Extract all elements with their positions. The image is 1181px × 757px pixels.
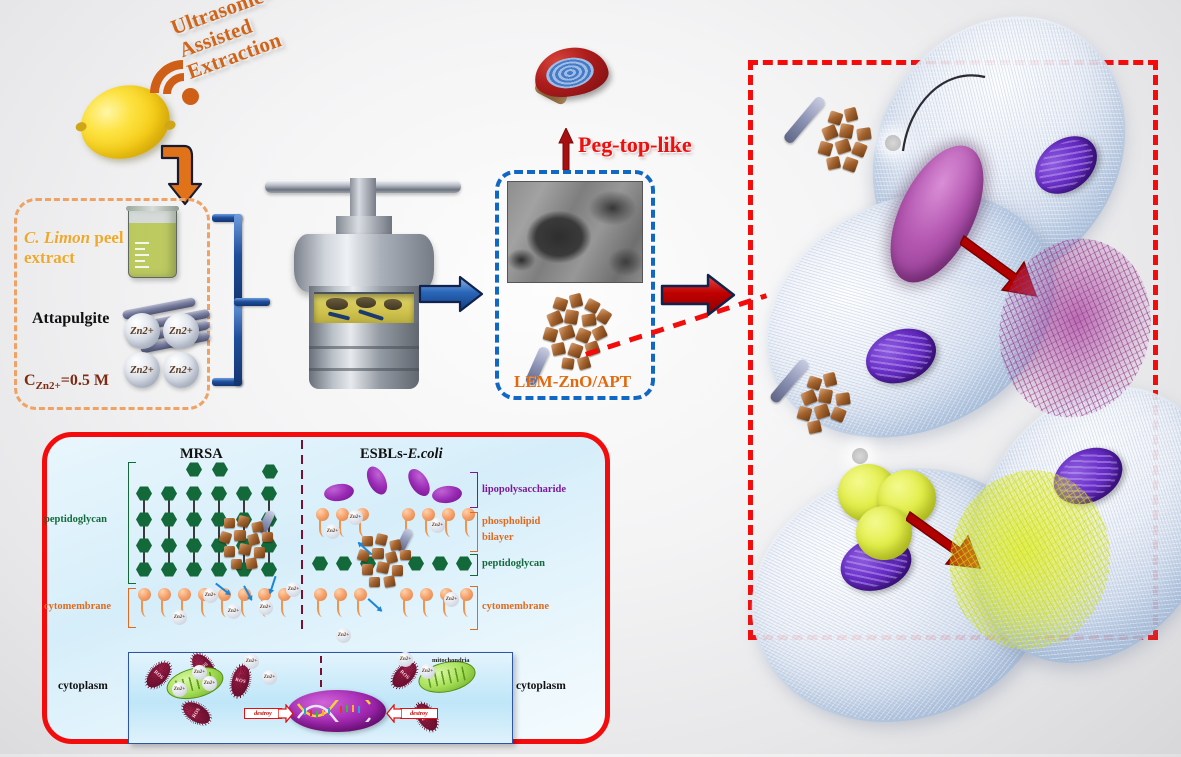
zinc-nanoparticle: Zn2+ xyxy=(444,592,459,607)
nanoparticle-cluster-lower xyxy=(778,355,888,455)
tem-micrograph-image xyxy=(507,181,643,283)
label-peptidoglycan-left: peptidoglycan xyxy=(44,514,107,525)
zinc-nanoparticle: Zn2+ xyxy=(258,600,273,615)
zinc-nanoparticle: Zn2+ xyxy=(202,676,217,691)
mechanism-title-ecoli: ESBLs-E.coli xyxy=(360,446,443,462)
bracket-lps-right xyxy=(470,472,478,508)
label-lipopolysaccharide: lipopolysaccharide xyxy=(482,484,566,495)
zinc-ion-sphere: Zn2+ xyxy=(163,313,199,349)
nanoparticle-attacking-ecoli xyxy=(352,528,422,604)
czn-subscript: Zn2+ xyxy=(36,380,61,392)
contact-point-spark xyxy=(852,448,868,464)
zinc-nanoparticle: Zn2+ xyxy=(325,524,340,539)
label-cytomembrane-left: cytomembrane xyxy=(44,601,111,612)
bracket-peptidoglycan-left xyxy=(128,462,136,584)
label-cytoplasm-right: cytoplasm xyxy=(516,680,566,692)
destroy-label-right: destroy xyxy=(400,708,438,719)
destroy-arrow-left xyxy=(278,704,294,723)
label-peptidoglycan-right: peptidoglycan xyxy=(482,558,545,569)
gram-positive-cocci xyxy=(856,506,912,560)
zinc-nanoparticle: Zn2+ xyxy=(430,518,445,533)
nanoparticle-cluster-product xyxy=(528,288,636,384)
czn-suffix: =0.5 M xyxy=(61,372,109,389)
mechanism-title-mrsa: MRSA xyxy=(180,446,223,462)
ultrasonic-wave-icon xyxy=(150,60,222,132)
zinc-concentration-label: CZn2+=0.5 M xyxy=(24,372,109,393)
lemon-extract-label: C. Limon peel extract xyxy=(24,228,134,268)
label-cytomembrane-right: cytomembrane xyxy=(482,601,549,612)
zinc-ion-sphere: Zn2+ xyxy=(124,352,160,388)
zinc-nanoparticle: Zn2+ xyxy=(172,682,187,697)
bracket-cytomembrane-left xyxy=(128,588,136,628)
nanoparticle-attacking-mrsa xyxy=(214,510,284,582)
ecoli-species: E.coli xyxy=(408,446,443,462)
zinc-nanoparticle: Zn2+ xyxy=(203,588,218,603)
pegtop-up-arrow xyxy=(558,128,574,170)
label-mitochondria: mitochondria xyxy=(432,657,470,664)
ecoli-lipopolysaccharide-layer xyxy=(318,472,468,512)
label-phospholipid: phospholipid xyxy=(482,516,540,527)
figure-canvas: Ultrasonic- Assisted Extraction C. Limon… xyxy=(0,0,1181,754)
mechanism-center-divider xyxy=(301,440,303,635)
zinc-nanoparticle: Zn2+ xyxy=(244,654,259,669)
zinc-nanoparticle: Zn2+ xyxy=(398,652,413,667)
product-name-label: LEM-ZnO/APT xyxy=(514,372,631,391)
bracket-bilayer-right xyxy=(470,512,478,552)
zinc-nanoparticle: Zn2+ xyxy=(420,664,435,679)
destroy-arrow-right xyxy=(386,704,402,723)
destroy-label-left: destroy xyxy=(244,708,282,719)
bracket-cytomembrane-right xyxy=(470,586,478,630)
zinc-ion-sphere: Zn2+ xyxy=(163,352,199,388)
process-arrow-blue xyxy=(418,274,484,314)
beaker-with-extract xyxy=(125,200,180,280)
zinc-nanoparticle: Zn2+ xyxy=(226,604,241,619)
zinc-nanoparticle: Zn2+ xyxy=(286,582,301,597)
attapulgite-label: Attapulgite xyxy=(32,310,109,328)
label-bilayer: bilayer xyxy=(482,532,514,543)
spinning-top-icon xyxy=(530,42,610,120)
label-cytoplasm-left: cytoplasm xyxy=(58,680,108,692)
zinc-ion-sphere: Zn2+ xyxy=(124,313,160,349)
bracket-peptidoglycan-right xyxy=(470,554,478,576)
ecoli-prefix: ESBLs- xyxy=(360,446,408,462)
extract-species-name: C. Limon xyxy=(24,228,90,247)
zinc-nanoparticle: Zn2+ xyxy=(262,670,277,685)
czn-prefix: C xyxy=(24,372,36,389)
bacterium-flagellum xyxy=(895,65,995,155)
dna-helix-strands xyxy=(296,700,378,722)
zinc-nanoparticle: Zn2+ xyxy=(336,628,351,643)
zinc-nanoparticle: Zn2+ xyxy=(172,610,187,625)
pegtop-like-label: Peg-top-like xyxy=(578,133,692,158)
zinc-nanoparticle: Zn2+ xyxy=(348,510,363,525)
